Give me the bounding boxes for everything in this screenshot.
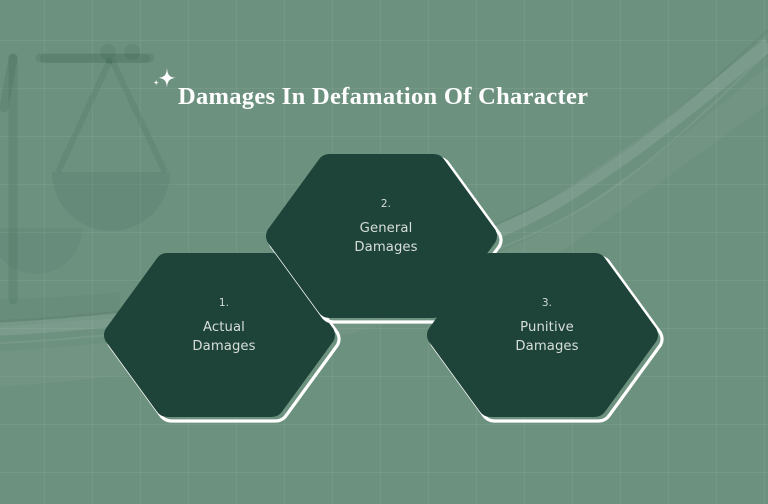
hexagon-fill-3	[427, 253, 658, 417]
hexagon-step-3[interactable]: 3. Punitive Damages	[442, 241, 652, 421]
page-title: Damages In Defamation Of Character	[178, 83, 588, 111]
slide-canvas: Damages In Defamation Of Character 1. Ac…	[0, 0, 768, 504]
sparkle-icon	[150, 66, 180, 96]
title-row: Damages In Defamation Of Character	[150, 62, 588, 111]
